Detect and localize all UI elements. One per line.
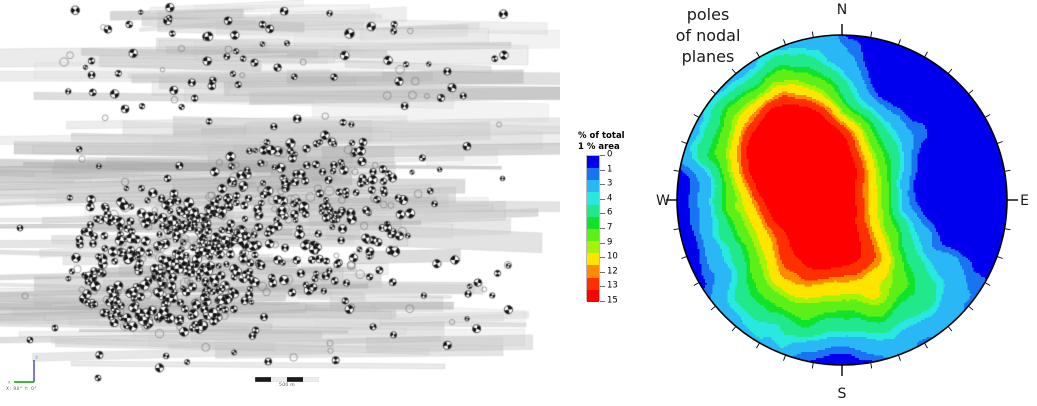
three-d-fault-scene-canvas[interactable] [0,0,560,406]
legend-label-13: 13 [607,282,618,291]
legend-band-7 [587,241,599,253]
three-d-fault-scene-panel[interactable]: Z X X: 90° Y: 0° 500 m [0,0,560,406]
legend-label-7: 7 [607,224,612,233]
axis-orientation-text: X: 90° Y: 0° [6,386,37,391]
stereonet-tick-110 [997,256,1003,258]
legend-label-0: 0 [607,151,612,160]
legend-tick-9 [600,243,605,244]
stereonet-tick-310 [711,90,716,94]
compass-label-east: E [1020,193,1029,209]
legend-band-0 [587,156,599,168]
legend-band-6 [587,229,599,241]
scale-bar-group: 500 m [255,377,319,388]
legend-label-3: 3 [607,180,612,189]
legend-tick-6 [600,213,605,214]
stereonet-tick-210 [757,343,760,348]
legend-tick-0 [600,155,605,156]
legend-label-4: 4 [607,194,612,203]
stereonet-tick-60 [985,115,990,118]
stereonet-tick-120 [985,283,990,286]
compass-label-south: S [838,386,847,402]
legend-tick-3 [600,184,605,185]
stereonet-tick-140 [948,326,952,331]
axis-x-label: X [8,381,11,385]
legend-band-2 [587,180,599,192]
stereonet-tick-160 [898,355,900,361]
legend-label-9: 9 [607,238,612,247]
stereonet-tick-170 [871,362,872,368]
legend-tick-15 [600,301,605,302]
stereonet-tick-300 [694,115,699,118]
stereonet-tick-10 [871,32,872,38]
density-colour-legend: % of total 1 % area 013467910121315 [578,131,640,301]
stereonet-tick-350 [812,32,813,38]
legend-band-9 [587,265,599,277]
scale-bar [255,377,319,382]
stereonet-tick-280 [674,170,680,171]
stereonet-tick-30 [925,52,928,57]
legend-tick-12 [600,272,605,273]
stereonet-tick-100 [1004,229,1010,230]
figure-root: Z X X: 90° Y: 0° 500 m % of total 1 % ar… [0,0,1037,406]
legend-band-5 [587,217,599,229]
legend-label-12: 12 [607,267,618,276]
stereonet-tick-200 [784,355,786,361]
stereonet-tick-250 [681,256,687,258]
stereonet-tick-50 [968,90,973,94]
legend-tick-1 [600,170,605,171]
legend-tick-7 [600,228,605,229]
legend-band-11 [587,290,599,302]
scale-bar-label: 500 m [255,383,319,388]
legend-label-15: 15 [607,297,618,306]
legend-band-4 [587,205,599,217]
stereonet-tick-330 [757,52,760,57]
stereonet-tick-40 [948,69,952,74]
axis-orientation-indicator: Z X [4,352,64,398]
stereonet-tick-320 [732,69,736,74]
legend-band-10 [587,278,599,290]
legend-colour-ramp [586,155,600,301]
stereonet-tick-150 [925,343,928,348]
stereonet-plot[interactable]: N S W E [648,0,1037,406]
stereonet-tick-290 [681,142,687,144]
stereonet-tick-260 [674,229,680,230]
stereonet-tick-230 [711,306,716,310]
stereonet-panel[interactable]: poles of nodal planes N S W E [648,0,1037,406]
stereonet-tick-130 [968,306,973,310]
legend-title-line-1: % of total [578,131,640,142]
legend-label-10: 10 [607,253,618,262]
stereonet-tick-340 [784,39,786,45]
stereonet-tick-20 [898,39,900,45]
legend-band-3 [587,192,599,204]
axis-y-label: Z [36,356,39,360]
legend-tick-4 [600,199,605,200]
compass-label-west: W [656,193,670,209]
legend-label-1: 1 [607,165,612,174]
legend-body: 013467910121315 [586,155,640,301]
legend-label-6: 6 [607,209,612,218]
stereonet-tick-70 [997,142,1003,144]
legend-tick-13 [600,286,605,287]
stereonet-tick-220 [732,326,736,331]
legend-band-8 [587,253,599,265]
stereonet-tick-240 [694,283,699,286]
compass-label-north: N [837,2,847,18]
stereonet-tick-80 [1004,170,1010,171]
stereonet-tick-190 [812,362,813,368]
legend-tick-10 [600,257,605,258]
legend-band-1 [587,168,599,180]
